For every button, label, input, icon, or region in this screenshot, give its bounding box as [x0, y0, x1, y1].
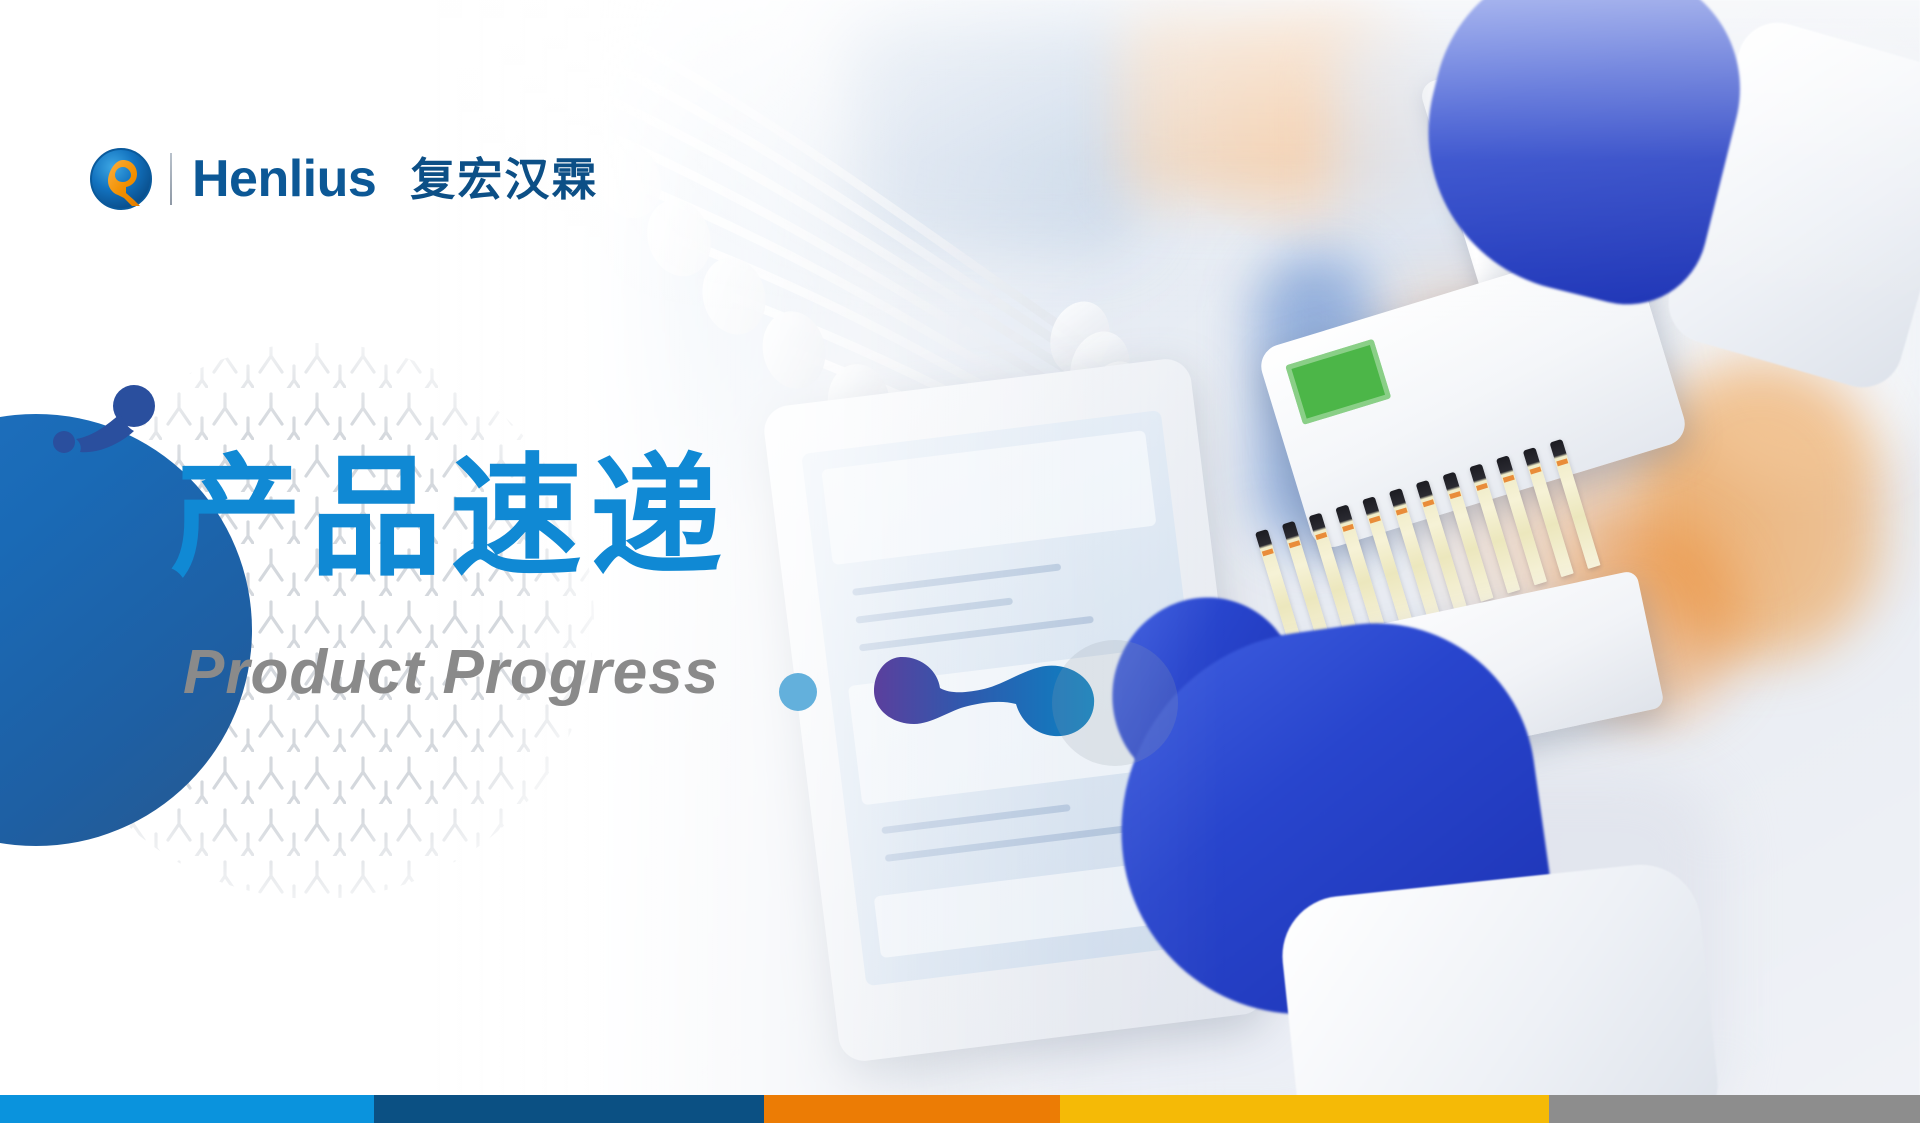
page-subtitle-english: Product Progress	[183, 642, 719, 704]
henlius-emblem-icon	[90, 148, 152, 210]
bottom-color-bar	[0, 1095, 1920, 1123]
bar-segment-grey	[1549, 1095, 1920, 1123]
logo-chinese-name: 复宏汉霖	[410, 157, 598, 202]
bar-segment-light-blue	[0, 1095, 374, 1123]
bar-segment-orange	[764, 1095, 1060, 1123]
page-title-chinese: 产品速递	[170, 452, 730, 584]
henlius-logo[interactable]: Henlius 复宏汉霖	[90, 146, 598, 212]
decor-ghost-circle	[1052, 640, 1178, 766]
logo-divider	[170, 153, 172, 205]
slide-canvas: Henlius 复宏汉霖 产品速递 Product Progress	[0, 0, 1920, 1123]
logo-wordmark: Henlius	[192, 153, 376, 205]
bar-segment-gold	[1060, 1095, 1550, 1123]
decor-dot-light-blue	[779, 673, 817, 711]
bar-segment-dark-blue	[374, 1095, 764, 1123]
molecule-small-icon	[36, 384, 166, 474]
